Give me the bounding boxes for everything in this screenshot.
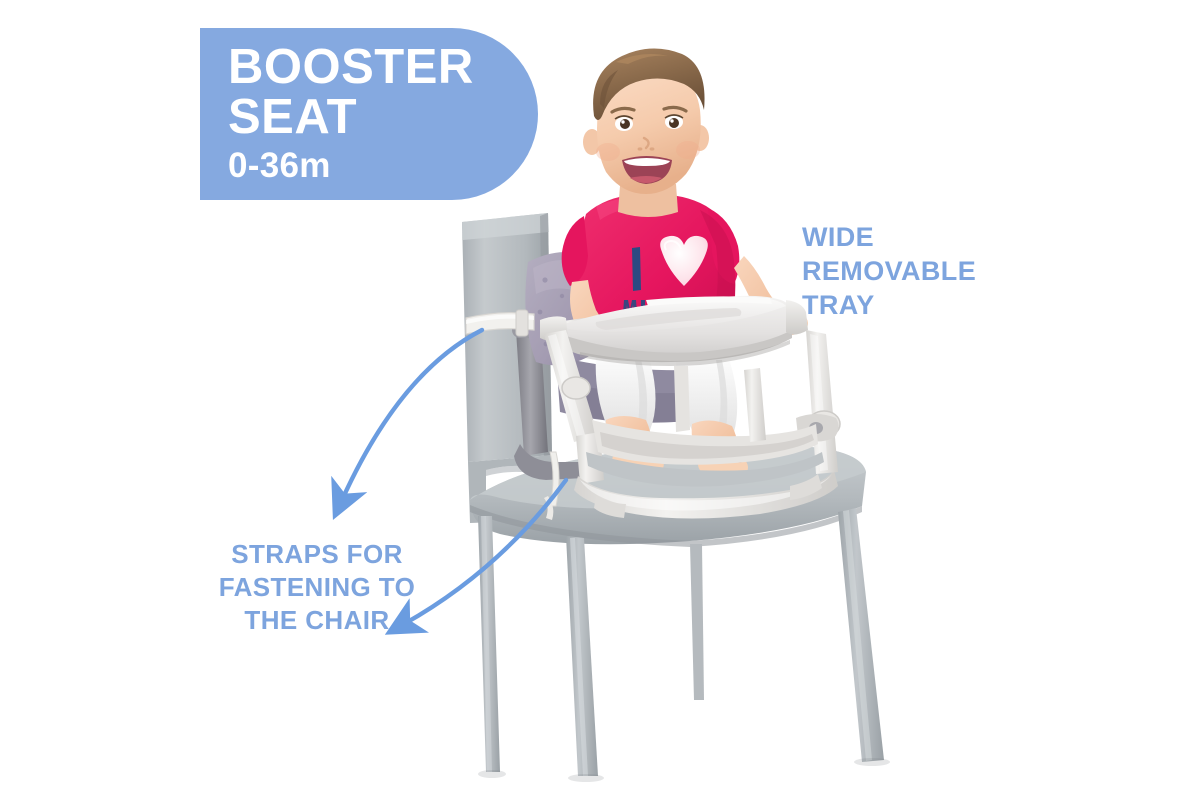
baby-head xyxy=(583,48,709,217)
callout-straps-fastening: STRAPS FOR FASTENING TO THE CHAIR xyxy=(196,538,438,637)
chair-legs xyxy=(478,508,884,776)
callout-wide-removable-tray: WIDE REMOVABLE TRAY xyxy=(802,220,976,322)
callout-tray-line3: TRAY xyxy=(802,288,976,322)
badge-age-range: 0-36m xyxy=(228,144,538,188)
callout-tray-line2: REMOVABLE xyxy=(802,254,976,288)
infographic-canvas: BOOSTER SEAT 0-36m WIDE REMOVABLE TRAY S… xyxy=(0,0,1200,800)
product-photo xyxy=(0,0,1200,800)
callout-straps-line3: THE CHAIR xyxy=(196,604,438,637)
callout-straps-line2: FASTENING TO xyxy=(196,571,438,604)
badge-title-line1: BOOSTER xyxy=(228,42,538,92)
shadows xyxy=(478,758,890,782)
callout-tray-line1: WIDE xyxy=(802,220,976,254)
product-badge: BOOSTER SEAT 0-36m xyxy=(200,28,538,200)
badge-title-line2: SEAT xyxy=(228,92,538,142)
callout-straps-line1: STRAPS FOR xyxy=(196,538,438,571)
